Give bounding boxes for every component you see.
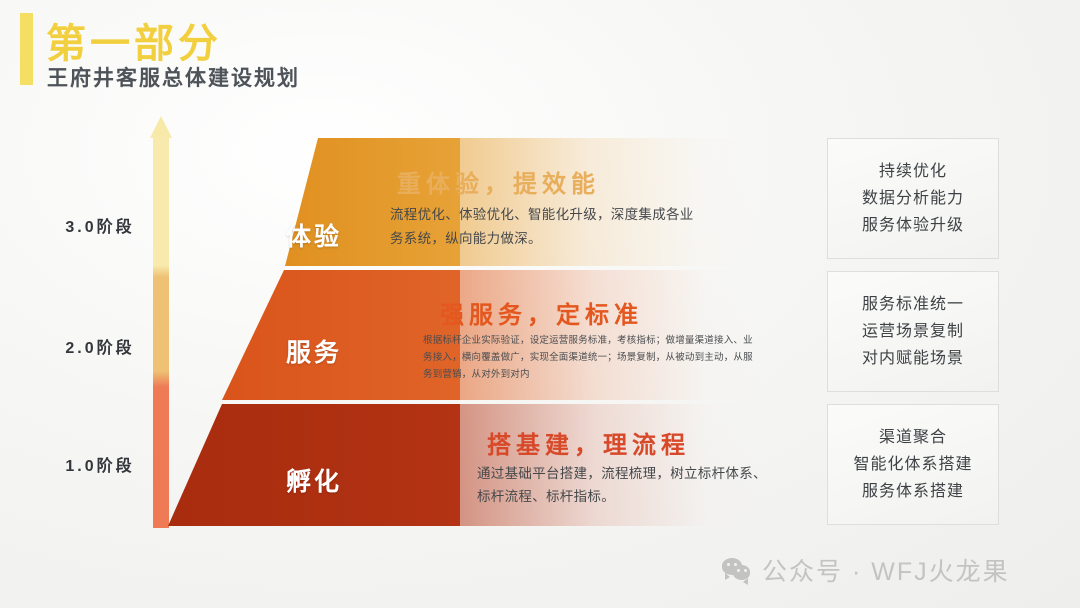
card-2-line-2: 运营场景复制	[862, 318, 964, 345]
tier-body-service: 根据标杆企业实际验证，设定运营服务标准，考核指标；做增量渠道接入、业务接入，横向…	[423, 332, 753, 383]
card-3-line-2: 智能化体系搭建	[853, 451, 972, 478]
card-3-line-3: 服务体系搭建	[862, 478, 964, 505]
pyramid-tier-incubation: 孵化 搭基建，理流程 通过基础平台搭建，流程梳理，树立标杆体系、标杆流程、标杆指…	[0, 404, 820, 526]
tier-name-service: 服务	[286, 333, 342, 369]
tier-heading-service: 强服务，定标准	[440, 295, 643, 330]
card-2-line-1: 服务标准统一	[862, 291, 964, 318]
card-3-line-1: 渠道聚合	[879, 424, 947, 451]
tier-name-experience: 体验	[286, 217, 342, 253]
pyramid-tier-experience: 体验 重体验，提效能 流程优化、体验优化、智能化升级，深度集成各业务系统，纵向能…	[0, 138, 820, 266]
watermark-text: 公众号 · WFJ火龙果	[762, 552, 1010, 588]
pyramid-diagram: 体验 重体验，提效能 流程优化、体验优化、智能化升级，深度集成各业务系统，纵向能…	[0, 0, 820, 608]
slide-canvas: 第一部分 王府井客服总体建设规划 3.0阶段 2.0阶段 1.0阶段 体验 重体…	[0, 0, 1080, 608]
outcome-card-1: 持续优化 数据分析能力 服务体验升级	[827, 138, 999, 259]
outcome-card-2: 服务标准统一 运营场景复制 对内赋能场景	[827, 271, 999, 392]
card-1-line-1: 持续优化	[879, 158, 947, 185]
wechat-icon	[722, 557, 752, 583]
pyramid-tier-service: 服务 强服务，定标准 根据标杆企业实际验证，设定运营服务标准，考核指标；做增量渠…	[0, 270, 820, 400]
card-1-line-3: 服务体验升级	[862, 212, 964, 239]
tier-body-experience: 流程优化、体验优化、智能化升级，深度集成各业务系统，纵向能力做深。	[390, 203, 700, 251]
tier-name-incubation: 孵化	[286, 462, 342, 498]
card-2-line-3: 对内赋能场景	[862, 345, 964, 372]
card-1-line-2: 数据分析能力	[862, 185, 964, 212]
outcome-card-3: 渠道聚合 智能化体系搭建 服务体系搭建	[827, 404, 999, 525]
tier-heading-experience: 重体验，提效能	[397, 164, 600, 199]
watermark: 公众号 · WFJ火龙果	[722, 552, 1010, 588]
tier-heading-incubation: 搭基建，理流程	[487, 425, 690, 460]
tier-body-incubation: 通过基础平台搭建，流程梳理，树立标杆体系、标杆流程、标杆指标。	[477, 462, 767, 508]
